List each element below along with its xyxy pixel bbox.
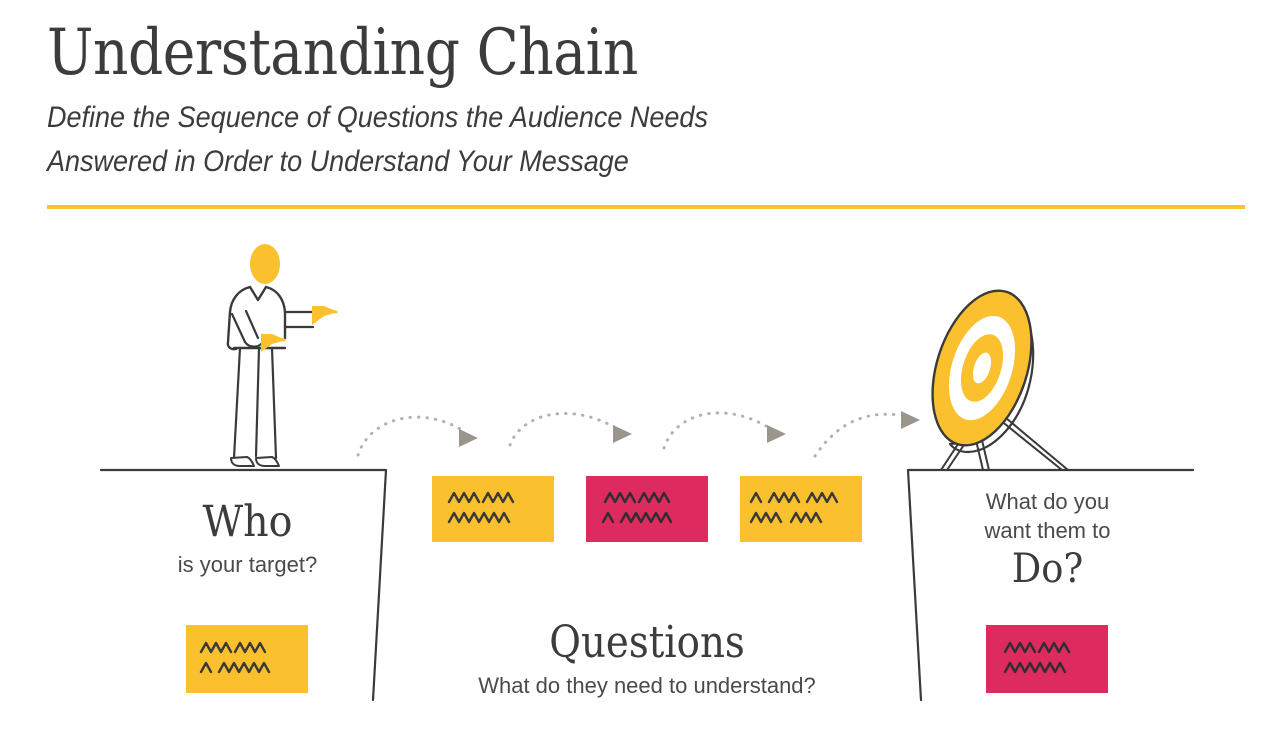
squiggle-lines xyxy=(197,638,297,680)
header-divider-rule xyxy=(47,205,1245,209)
question-note-1 xyxy=(432,476,554,542)
dotted-arc-arrow-2 xyxy=(510,413,632,445)
page-subtitle: Define the Sequence of Questions the Aud… xyxy=(47,96,1127,184)
pointing-hand-right-icon xyxy=(312,306,338,325)
who-heading: Who xyxy=(153,498,342,546)
dotted-arc-arrow-group xyxy=(358,411,920,456)
squiggle-lines xyxy=(599,488,695,530)
who-subheading: is your target? xyxy=(145,550,350,580)
dotted-arc-arrow-1 xyxy=(358,417,478,455)
squiggle-lines xyxy=(999,638,1095,680)
squiggle-lines xyxy=(749,488,853,530)
question-note-2 xyxy=(586,476,708,542)
bullseye-target-icon xyxy=(914,278,1068,470)
page-title: Understanding Chain xyxy=(47,14,1079,92)
questions-subheading: What do they need to understand? xyxy=(447,671,847,701)
slide-canvas: Understanding Chain Define the Sequence … xyxy=(0,0,1270,754)
who-note xyxy=(186,625,308,693)
slide-header: Understanding Chain Define the Sequence … xyxy=(47,14,1247,184)
dotted-arc-arrow-4 xyxy=(815,411,920,456)
pointing-hand-left-icon xyxy=(261,334,286,352)
do-text-block: What do you want them to Do? xyxy=(945,487,1150,592)
pointing-person-icon xyxy=(228,244,338,466)
questions-heading: Questions xyxy=(471,617,823,669)
do-heading: Do? xyxy=(953,546,1142,592)
squiggle-lines xyxy=(445,488,541,530)
questions-text-block: Questions What do they need to understan… xyxy=(447,617,847,701)
do-note xyxy=(986,625,1108,693)
question-note-3 xyxy=(740,476,862,542)
person-head-icon xyxy=(250,244,280,284)
dotted-arc-arrow-3 xyxy=(664,413,786,448)
who-text-block: Who is your target? xyxy=(145,498,350,580)
do-subheading: What do you want them to xyxy=(945,487,1150,545)
